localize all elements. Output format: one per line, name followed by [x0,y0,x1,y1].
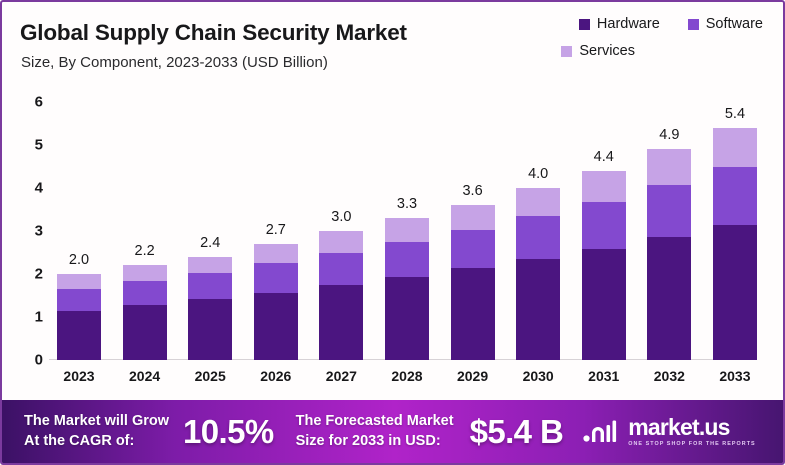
brand-name: market.us [628,416,756,439]
brand-logo[interactable]: market.us ONE STOP SHOP FOR THE REPORTS [583,416,756,447]
x-axis-label-2023: 2023 [57,368,101,384]
y-axis-tick-4: 4 [35,181,43,196]
y-axis-tick-6: 6 [35,95,43,110]
bar-value-label-2025: 2.4 [200,235,220,251]
bar-segment-hardware-2029[interactable] [451,268,495,360]
forecast-label-line2: Size for 2033 in USD: [296,433,441,449]
bar-value-label-2023: 2.0 [69,252,89,268]
bar-column-2027[interactable]: 3.0 [319,102,363,360]
bar-segment-hardware-2030[interactable] [516,259,560,360]
bar-value-label-2033: 5.4 [725,106,745,122]
x-axis-label-2026: 2026 [254,368,298,384]
bar-segment-hardware-2028[interactable] [385,277,429,360]
bar-stack [713,128,757,360]
bar-value-label-2029: 3.6 [462,183,482,199]
bar-segment-hardware-2027[interactable] [319,285,363,360]
y-axis-tick-1: 1 [35,310,43,325]
bar-value-label-2027: 3.0 [331,209,351,225]
legend-label-software: Software [706,16,763,32]
bar-segment-software-2027[interactable] [319,253,363,286]
legend-row-primary: Hardware Software [495,16,763,32]
bar-segment-services-2027[interactable] [319,231,363,253]
bar-segment-software-2033[interactable] [713,167,757,225]
bar-stack [123,265,167,360]
x-axis-labels: 2023202420252026202720282029203020312032… [57,368,757,384]
bar-segment-software-2032[interactable] [647,185,691,237]
bar-stack [516,188,560,360]
x-axis-label-2028: 2028 [385,368,429,384]
bar-stack [319,231,363,360]
bar-column-2028[interactable]: 3.3 [385,102,429,360]
bar-value-label-2026: 2.7 [266,222,286,238]
bar-segment-services-2023[interactable] [57,274,101,289]
chart-axes: 0123456 2.02.22.42.73.03.33.64.04.44.95.… [57,102,757,360]
y-axis-tick-3: 3 [35,224,43,239]
market-us-logo-icon [583,419,621,445]
bar-segment-services-2024[interactable] [123,265,167,281]
bar-segment-services-2026[interactable] [254,244,298,263]
bar-stack [385,218,429,360]
bar-column-2025[interactable]: 2.4 [188,102,232,360]
bar-segment-hardware-2031[interactable] [582,249,626,360]
bar-segment-hardware-2026[interactable] [254,293,298,360]
bar-segment-software-2024[interactable] [123,281,167,305]
brand-tagline: ONE STOP SHOP FOR THE REPORTS [628,442,756,447]
bar-segment-services-2030[interactable] [516,188,560,216]
bar-segment-services-2031[interactable] [582,171,626,202]
bar-column-2031[interactable]: 4.4 [582,102,626,360]
y-axis-tick-5: 5 [35,138,43,153]
bar-segment-software-2026[interactable] [254,263,298,293]
bar-series-group: 2.02.22.42.73.03.33.64.04.44.95.4 [57,102,757,360]
x-axis-label-2025: 2025 [188,368,232,384]
bar-segment-services-2029[interactable] [451,205,495,230]
page-title: Global Supply Chain Security Market [20,20,407,46]
cagr-value: 10.5% [183,413,274,451]
x-axis-label-2032: 2032 [647,368,691,384]
x-axis-label-2030: 2030 [516,368,560,384]
bar-column-2024[interactable]: 2.2 [123,102,167,360]
x-axis-label-2033: 2033 [713,368,757,384]
bar-value-label-2032: 4.9 [659,127,679,143]
x-axis-label-2029: 2029 [451,368,495,384]
summary-footer: The Market will Grow At the CAGR of: 10.… [2,400,785,463]
legend-swatch-software [688,19,699,30]
chart-subtitle: Size, By Component, 2023-2033 (USD Billi… [21,54,328,71]
x-axis-label-2031: 2031 [582,368,626,384]
bar-stack [582,171,626,360]
chart-header: Global Supply Chain Security Market Size… [2,2,785,94]
bar-segment-hardware-2033[interactable] [713,225,757,360]
bar-segment-hardware-2025[interactable] [188,299,232,360]
x-axis-label-2024: 2024 [123,368,167,384]
bar-value-label-2024: 2.2 [135,243,155,259]
bar-segment-software-2025[interactable] [188,273,232,299]
bar-segment-software-2030[interactable] [516,216,560,259]
bar-segment-hardware-2024[interactable] [123,305,167,360]
bar-stack [254,244,298,360]
bar-column-2026[interactable]: 2.7 [254,102,298,360]
y-axis-tick-0: 0 [35,353,43,368]
forecast-value: $5.4 B [470,413,564,451]
chart-infographic: Global Supply Chain Security Market Size… [0,0,785,465]
bar-value-label-2028: 3.3 [397,196,417,212]
bar-segment-hardware-2023[interactable] [57,311,101,360]
brand-logo-text: market.us ONE STOP SHOP FOR THE REPORTS [628,416,756,447]
bar-segment-software-2031[interactable] [582,202,626,248]
legend-swatch-hardware [579,19,590,30]
legend-label-services: Services [579,43,635,59]
chart-legend: Hardware Software Services [495,16,763,59]
legend-item-software[interactable]: Software [688,16,763,32]
bar-stack [188,257,232,360]
legend-row-secondary: Services [495,43,763,59]
cagr-label-line2: At the CAGR of: [24,433,134,449]
bar-column-2023[interactable]: 2.0 [57,102,101,360]
forecast-label: The Forecasted Market Size for 2033 in U… [296,412,454,450]
bar-column-2033[interactable]: 5.4 [713,102,757,360]
legend-item-services[interactable]: Services [561,43,635,59]
x-axis-label-2027: 2027 [319,368,363,384]
bar-segment-software-2023[interactable] [57,289,101,311]
chart-plot-area: 0123456 2.02.22.42.73.03.33.64.04.44.95.… [2,94,785,394]
bar-segment-software-2029[interactable] [451,230,495,269]
y-axis-tick-2: 2 [35,267,43,282]
bar-segment-services-2033[interactable] [713,128,757,167]
bar-value-label-2031: 4.4 [594,149,614,165]
bar-value-label-2030: 4.0 [528,166,548,182]
bar-segment-services-2028[interactable] [385,218,429,242]
cagr-label: The Market will Grow At the CAGR of: [24,412,169,450]
bar-stack [451,205,495,360]
bar-segment-hardware-2032[interactable] [647,237,691,360]
bar-column-2030[interactable]: 4.0 [516,102,560,360]
legend-label-hardware: Hardware [597,16,660,32]
bar-column-2029[interactable]: 3.6 [451,102,495,360]
legend-swatch-services [561,46,572,57]
bar-segment-services-2025[interactable] [188,257,232,273]
bar-column-2032[interactable]: 4.9 [647,102,691,360]
forecast-label-line1: The Forecasted Market [296,413,454,429]
cagr-label-line1: The Market will Grow [24,413,169,429]
legend-item-hardware[interactable]: Hardware [579,16,660,32]
bar-segment-software-2028[interactable] [385,242,429,277]
bar-segment-services-2032[interactable] [647,149,691,185]
bar-stack [647,149,691,360]
bar-stack [57,274,101,360]
